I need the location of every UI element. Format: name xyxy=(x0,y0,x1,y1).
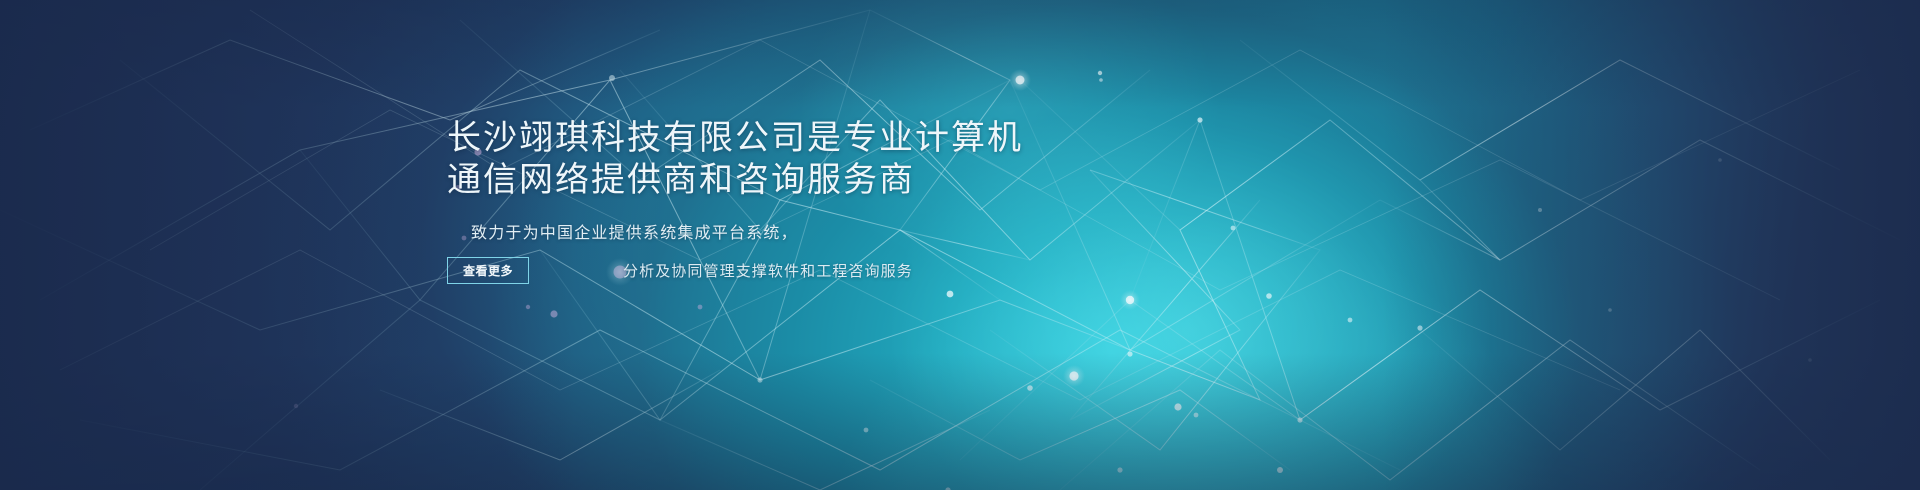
banner-subtitle-line-2: 分析及协同管理支撑软件和工程咨询服务 xyxy=(623,260,913,281)
headline-line-2: 通信网络提供商和咨询服务商 xyxy=(447,160,967,202)
banner-subtitle-line-1: 致力于为中国企业提供系统集成平台系统， xyxy=(471,219,967,243)
banner-headline: 长沙翊琪科技有限公司是专业计算机 通信网络提供商和咨询服务商 xyxy=(447,118,967,202)
view-more-button[interactable]: 查看更多 xyxy=(447,257,529,284)
hero-banner: 长沙翊琪科技有限公司是专业计算机 通信网络提供商和咨询服务商 致力于为中国企业提… xyxy=(0,0,1920,490)
banner-content: 长沙翊琪科技有限公司是专业计算机 通信网络提供商和咨询服务商 致力于为中国企业提… xyxy=(447,118,967,284)
headline-line-1: 长沙翊琪科技有限公司是专业计算机 xyxy=(447,118,967,160)
cta-row: 查看更多 分析及协同管理支撑软件和工程咨询服务 xyxy=(447,257,967,284)
